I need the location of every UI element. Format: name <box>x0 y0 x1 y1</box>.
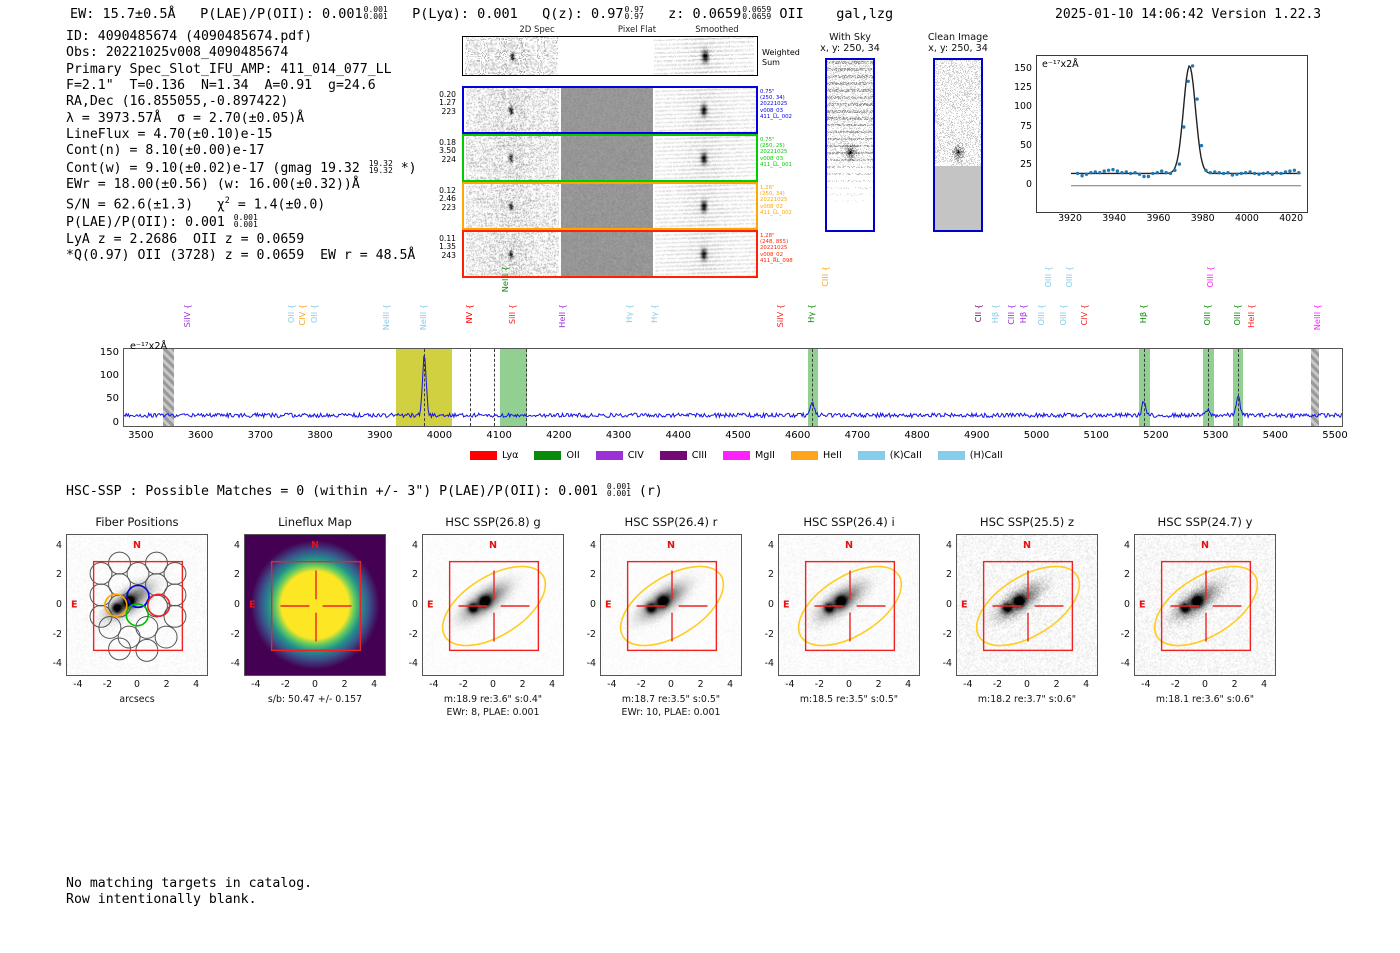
panel-y-tick: -4 <box>43 658 62 669</box>
panel-y-tick: 4 <box>755 540 774 551</box>
fiber-row-metadata: 1.28"(248, 855)20221025v008_02411_RL_098 <box>760 233 793 264</box>
spectrum-ion-label: OII { <box>286 304 296 323</box>
panel-y-tick: 0 <box>755 599 774 610</box>
panel-y-tick: 2 <box>399 569 418 580</box>
panel-x-tick: 0 <box>1018 679 1036 690</box>
spectrum-ion-label: Hγ { <box>624 304 634 323</box>
spectrum-legend-item: MgII <box>723 450 775 461</box>
panel-y-tick: 2 <box>43 569 62 580</box>
spectrum-ion-label: Hγ { <box>806 304 816 323</box>
detection-info-block: ID: 4090485674 (4090485674.pdf) Obs: 202… <box>66 29 417 264</box>
panel-image <box>1134 534 1276 676</box>
spectrum-legend-item: (K)CaII <box>858 450 922 461</box>
fit-plot-y-tick: 100 <box>1006 101 1032 112</box>
clean-image <box>933 58 983 232</box>
header-z-type: OII <box>779 6 803 22</box>
panel-image <box>244 534 386 676</box>
spectrum-x-tick: 5100 <box>1076 430 1116 441</box>
spec2d-panel-group: 2D Spec Pixel Flat Smoothed Weighted Sum… <box>462 36 758 258</box>
panel-x-tick: 2 <box>870 679 888 690</box>
panel-y-tick: 0 <box>933 599 952 610</box>
legend-swatch <box>938 451 965 460</box>
header-plya: P(Lyα): 0.001 <box>412 6 518 22</box>
header-qz-lo: 0.97 <box>624 13 643 20</box>
sky-cutout-panel: Fiber PositionsNE-4-4-2-2002244arcsecs <box>66 534 208 676</box>
panel-overlay <box>601 535 742 676</box>
spectrum-ion-label: OIII { <box>1058 304 1068 326</box>
panel-x-tick: -2 <box>276 679 294 690</box>
panel-title: Lineflux Map <box>244 515 386 529</box>
panel-y-tick: -4 <box>399 658 418 669</box>
spectrum-legend: LyαOIICIVCIIIMgIIHeII(K)CaII(H)CaII <box>470 450 1019 461</box>
fiber-smoothed-image <box>655 184 756 228</box>
fit-plot-svg <box>1037 56 1307 212</box>
fit-plot-y-tick: 25 <box>1006 159 1032 170</box>
panel-title: HSC SSP(26.4) r <box>600 515 742 529</box>
east-label: E <box>783 600 790 611</box>
panel-y-tick: 0 <box>1111 599 1130 610</box>
info-plae-lo: 0.001 <box>234 221 258 228</box>
panel-x-tick: -2 <box>632 679 650 690</box>
north-label: N <box>489 540 497 551</box>
panel-x-tick: 2 <box>1226 679 1244 690</box>
info-plae-pre: P(LAE)/P(OII): 0.001 <box>66 215 233 230</box>
panel-x-tick: -4 <box>781 679 799 690</box>
spectrum-legend-item: Lyα <box>470 450 518 461</box>
panel-title: HSC SSP(25.5) z <box>956 515 1098 529</box>
panel-image <box>956 534 1098 676</box>
hsc-header-pre: HSC-SSP : Possible Matches = 0 (within +… <box>66 484 606 499</box>
panel-y-tick: -4 <box>933 658 952 669</box>
panel-y-tick: -2 <box>399 629 418 640</box>
fit-plot-x-tick: 3940 <box>1097 213 1131 224</box>
sky-cutout-panel: HSC SSP(26.8) gNE-4-4-2-2002244m:18.9 re… <box>422 534 564 676</box>
fiber-meta-4: 411_LL_001 <box>760 162 792 168</box>
panel-overlay <box>957 535 1098 676</box>
with-sky-title-text: With Sky <box>829 32 871 43</box>
info-cont-w-pre: Cont(w) = 9.10(±0.02)e-17 (gmag 19.32 <box>66 161 368 176</box>
hsc-ssp-header: HSC-SSP : Possible Matches = 0 (within +… <box>66 483 663 499</box>
east-label: E <box>605 600 612 611</box>
panel-y-tick: -2 <box>577 629 596 640</box>
spec2d-fiber-row <box>462 134 758 182</box>
panel-y-tick: 2 <box>933 569 952 580</box>
fiber-smoothed-image <box>655 136 756 180</box>
panel-y-tick: -2 <box>221 629 240 640</box>
panel-x-tick: -4 <box>1137 679 1155 690</box>
spectrum-ion-label: CIII { <box>1006 304 1016 325</box>
col-header-smoothed: Smoothed <box>662 25 772 35</box>
panel-x-tick: -4 <box>247 679 265 690</box>
clean-image-title-text: Clean Image <box>928 32 988 43</box>
fiber-row-values: 0.183.50224 <box>422 139 456 164</box>
spectrum-ion-label: Hβ { <box>1138 304 1148 323</box>
spectrum-y-tick: 0 <box>91 417 119 428</box>
spectrum-legend-item: (H)CaII <box>938 450 1003 461</box>
panel-y-tick: -4 <box>577 658 596 669</box>
panel-caption-secondary: EWr: 10, PLAE: 0.001 <box>572 707 771 719</box>
header-classification: gal,lzg <box>836 6 893 22</box>
spectrum-x-tick: 5400 <box>1255 430 1295 441</box>
panel-x-tick: -2 <box>988 679 1006 690</box>
panel-caption-secondary: EWr: 8, PLAE: 0.001 <box>394 707 593 719</box>
panel-y-tick: 0 <box>399 599 418 610</box>
fiber-meta-4: 411_LL_002 <box>760 210 792 216</box>
panel-caption: s/b: 50.47 +/- 0.157 <box>216 694 415 706</box>
panel-y-tick: -2 <box>43 629 62 640</box>
info-lambda-sigma: λ = 3973.57Å σ = 2.70(±0.05)Å <box>66 111 417 127</box>
spectrum-x-tick: 4700 <box>837 430 877 441</box>
header-z-label: z: 0.0659 <box>668 6 741 22</box>
header-z-lo: 0.0659 <box>742 13 771 20</box>
fiber-row-values: 0.201.27223 <box>422 91 456 116</box>
panel-image <box>422 534 564 676</box>
panel-x-tick: 0 <box>128 679 146 690</box>
panel-x-tick: 2 <box>158 679 176 690</box>
header-summary-line: EW: 15.7±0.5Å P(LAE)/P(OII): 0.0010.0010… <box>70 6 893 22</box>
legend-label: (H)CaII <box>970 450 1003 461</box>
spectrum-ion-label: OIII { <box>1232 304 1242 326</box>
sky-cutout-panel: HSC SSP(26.4) iNE-4-4-2-2002244m:18.5 re… <box>778 534 920 676</box>
north-label: N <box>1023 540 1031 551</box>
info-ewr: EWr = 18.00(±0.56) (w: 16.00(±0.32))Å <box>66 177 417 193</box>
fit-plot-x-tick: 3920 <box>1053 213 1087 224</box>
legend-label: CIII <box>692 450 707 461</box>
spec2d-row-weighted-sum <box>462 36 758 76</box>
north-label: N <box>667 540 675 551</box>
panel-image <box>66 534 208 676</box>
spec2d-fiber-row <box>462 86 758 134</box>
legend-label: CIV <box>628 450 644 461</box>
spectrum-y-tick: 50 <box>91 393 119 404</box>
fiber-row-metadata: 0.75"(250, 34)20221025v008_03411_LL_002 <box>760 89 792 120</box>
full-spectrum-trace <box>124 349 1342 426</box>
spectrum-x-tick: 4000 <box>419 430 459 441</box>
east-label: E <box>71 600 78 611</box>
emission-line-fit-plot: e⁻¹⁷x2Å <box>1036 55 1308 213</box>
panel-x-tick: 2 <box>336 679 354 690</box>
spectrum-x-tick: 4600 <box>778 430 818 441</box>
spectrum-x-tick: 5000 <box>1017 430 1057 441</box>
panel-x-tick: 4 <box>1255 679 1273 690</box>
spectrum-ion-label: NeIII { <box>418 304 428 330</box>
panel-overlay <box>1135 535 1276 676</box>
panel-title: HSC SSP(26.4) i <box>778 515 920 529</box>
spectrum-x-tick: 3800 <box>300 430 340 441</box>
panel-x-tick: 2 <box>692 679 710 690</box>
spectrum-ion-label: CII { <box>973 304 983 322</box>
header-qz-label: Q(z): 0.97 <box>542 6 623 22</box>
panel-y-tick: 4 <box>43 540 62 551</box>
spectrum-ion-label: NV { <box>464 304 474 324</box>
spectrum-ion-label: CIII { <box>820 266 830 287</box>
spectrum-ion-label: SiIV { <box>182 304 192 327</box>
spectrum-ion-label: SiII { <box>507 304 517 324</box>
spectrum-x-tick: 4300 <box>599 430 639 441</box>
spectrum-x-tick: 5500 <box>1315 430 1355 441</box>
sky-cutout-panel: HSC SSP(26.4) rNE-4-4-2-2002244m:18.7 re… <box>600 534 742 676</box>
panel-caption: m:18.5 re:3.5" s:0.5" <box>750 694 949 706</box>
panel-x-tick: 2 <box>1048 679 1066 690</box>
panel-image <box>778 534 920 676</box>
panel-y-tick: 4 <box>221 540 240 551</box>
info-cont-w: Cont(w) = 9.10(±0.02)e-17 (gmag 19.32 19… <box>66 160 417 177</box>
sky-cutout-panel: HSC SSP(24.7) yNE-4-4-2-2002244m:18.1 re… <box>1134 534 1276 676</box>
spectrum-ion-label: Hγ { <box>649 304 659 323</box>
spectrum-ion-label: Hβ { <box>1018 304 1028 323</box>
spectrum-ion-label: HeII { <box>557 304 567 328</box>
spectrum-ion-label: SiIV { <box>775 304 785 327</box>
panel-x-tick: -4 <box>425 679 443 690</box>
fiber-smoothed-image <box>655 88 756 132</box>
footer-notes: No matching targets in catalog. Row inte… <box>66 876 312 909</box>
panel-x-tick: 0 <box>306 679 324 690</box>
with-sky-image <box>825 58 875 232</box>
spectrum-ion-label: NeIII { <box>1312 304 1322 330</box>
panel-x-tick: 2 <box>514 679 532 690</box>
panel-x-tick: -2 <box>1166 679 1184 690</box>
legend-label: (K)CaII <box>890 450 922 461</box>
fiber-2dspec-image <box>466 88 559 132</box>
legend-swatch <box>534 451 561 460</box>
panel-title: HSC SSP(26.8) g <box>422 515 564 529</box>
spectrum-y-tick: 150 <box>91 347 119 358</box>
legend-swatch <box>858 451 885 460</box>
legend-swatch <box>791 451 818 460</box>
fit-plot-y-tick: 0 <box>1006 179 1032 190</box>
fiber-pixelflat-image <box>561 184 653 228</box>
hsc-header-lo: 0.001 <box>607 490 631 497</box>
fiber-value-2: 224 <box>422 156 456 164</box>
panel-x-tick: 0 <box>662 679 680 690</box>
north-label: N <box>845 540 853 551</box>
panel-caption: m:18.9 re:3.6" s:0.4" <box>394 694 593 706</box>
clean-image-title: Clean Image x, y: 250, 34 <box>915 32 1001 54</box>
panel-x-tick: 4 <box>543 679 561 690</box>
info-snr-post: = 1.4(±0.0) <box>230 198 325 213</box>
panel-x-tick: -4 <box>603 679 621 690</box>
fiber-smoothed-image <box>655 232 756 276</box>
panel-y-tick: -4 <box>755 658 774 669</box>
panel-caption: m:18.2 re:3.7" s:0.6" <box>928 694 1127 706</box>
legend-label: OII <box>566 450 579 461</box>
fiber-row-values: 0.122.46223 <box>422 187 456 212</box>
panel-overlay <box>423 535 564 676</box>
north-label: N <box>311 540 319 551</box>
panel-y-tick: 2 <box>221 569 240 580</box>
footer-line-2: Row intentionally blank. <box>66 892 312 908</box>
fiber-2dspec-image <box>466 232 559 276</box>
spectrum-legend-item: CIII <box>660 450 707 461</box>
legend-swatch <box>660 451 687 460</box>
spectrum-legend-item: CIV <box>596 450 644 461</box>
spectrum-x-tick: 3900 <box>360 430 400 441</box>
panel-x-tick: -4 <box>959 679 977 690</box>
panel-title: HSC SSP(24.7) y <box>1134 515 1276 529</box>
spectrum-x-tick: 3700 <box>240 430 280 441</box>
panel-x-tick: 4 <box>899 679 917 690</box>
spectrum-legend-item: OII <box>534 450 579 461</box>
spec2d-fiber-row <box>462 182 758 230</box>
fit-plot-units: e⁻¹⁷x2Å <box>1042 59 1079 70</box>
info-plae: P(LAE)/P(OII): 0.001 0.0010.001 <box>66 214 417 231</box>
spectrum-ion-label: Hβ { <box>990 304 1000 323</box>
spectrum-ion-label: CIV { <box>1079 304 1089 326</box>
panel-x-tick: 0 <box>1196 679 1214 690</box>
clean-image-coords: x, y: 250, 34 <box>928 43 988 54</box>
panel-y-tick: -4 <box>221 658 240 669</box>
panel-x-tick: 0 <box>484 679 502 690</box>
east-label: E <box>961 600 968 611</box>
spectrum-ion-label: OIII { <box>1043 266 1053 288</box>
spectrum-x-tick: 5300 <box>1196 430 1236 441</box>
spectrum-ion-label: OIII { <box>1064 266 1074 288</box>
weighted-sum-label: Weighted Sum <box>762 48 800 68</box>
fiber-pixelflat-image <box>561 88 653 132</box>
panel-y-tick: -2 <box>755 629 774 640</box>
col-header-2dspec: 2D Spec <box>482 25 592 35</box>
spectrum-x-tick: 4500 <box>718 430 758 441</box>
panel-overlay <box>245 535 386 676</box>
panel-y-tick: -4 <box>1111 658 1130 669</box>
panel-x-tick: 4 <box>365 679 383 690</box>
panel-x-tick: 4 <box>721 679 739 690</box>
info-q-line: *Q(0.97) OII (3728) z = 0.0659 EW r = 48… <box>66 248 417 264</box>
panel-caption: m:18.7 re:3.5" s:0.5" <box>572 694 771 706</box>
fit-plot-y-tick: 50 <box>1006 140 1032 151</box>
fit-plot-y-tick: 150 <box>1006 63 1032 74</box>
spectrum-ion-label: HeII { <box>1246 304 1256 328</box>
panel-x-tick: 4 <box>187 679 205 690</box>
fit-plot-x-tick: 4020 <box>1274 213 1308 224</box>
weighted-sum-2dspec-image <box>465 37 558 75</box>
spectrum-ion-label: OIII { <box>1205 266 1215 288</box>
info-lineflux: LineFlux = 4.70(±0.10)e-15 <box>66 127 417 143</box>
header-ew: EW: 15.7±0.5Å <box>70 6 176 22</box>
legend-swatch <box>596 451 623 460</box>
spectrum-ion-label: NeIII { <box>500 266 510 292</box>
panel-y-tick: 4 <box>399 540 418 551</box>
spectrum-ion-label: OIII { <box>1036 304 1046 326</box>
panel-x-tick: -2 <box>98 679 116 690</box>
legend-label: MgII <box>755 450 775 461</box>
spectrum-x-tick: 4900 <box>957 430 997 441</box>
panel-y-tick: 0 <box>43 599 62 610</box>
with-sky-title: With Sky x, y: 250, 34 <box>812 32 888 54</box>
panel-x-tick: -4 <box>69 679 87 690</box>
panel-y-tick: -2 <box>933 629 952 640</box>
east-label: E <box>427 600 434 611</box>
panel-y-tick: 4 <box>933 540 952 551</box>
fiber-meta-2: 20221025 <box>760 101 792 107</box>
spectrum-x-tick: 4100 <box>479 430 519 441</box>
fiber-meta-4: 411_RL_098 <box>760 258 793 264</box>
legend-swatch <box>470 451 497 460</box>
header-plae-lo: 0.001 <box>364 13 388 20</box>
legend-label: HeII <box>823 450 842 461</box>
info-snr-pre: S/N = 62.6(±1.3) χ <box>66 198 225 213</box>
info-snr-chi2: S/N = 62.6(±1.3) χ2 = 1.4(±0.0) <box>66 193 417 214</box>
fiber-2dspec-image <box>466 136 559 180</box>
legend-swatch <box>723 451 750 460</box>
info-cont-w-lo: 19.32 <box>369 167 393 174</box>
footer-line-1: No matching targets in catalog. <box>66 876 312 892</box>
panel-title: Fiber Positions <box>66 515 208 529</box>
legend-label: Lyα <box>502 450 518 461</box>
spectrum-legend-item: HeII <box>791 450 842 461</box>
panel-y-tick: 2 <box>577 569 596 580</box>
header-plae-label: P(LAE)/P(OII): 0.001 <box>200 6 363 22</box>
fiber-pixelflat-image <box>561 232 653 276</box>
fiber-meta-4: 411_LL_002 <box>760 114 792 120</box>
panel-y-tick: -2 <box>1111 629 1130 640</box>
panel-y-tick: 0 <box>221 599 240 610</box>
full-spectrum-plot <box>123 348 1343 427</box>
spectrum-x-tick: 4800 <box>897 430 937 441</box>
fiber-value-2: 223 <box>422 204 456 212</box>
panel-y-tick: 2 <box>1111 569 1130 580</box>
weighted-sum-pixelflat-image <box>560 37 652 75</box>
spectrum-ion-label: OII { <box>309 304 319 323</box>
weighted-sum-smoothed-image <box>654 37 754 75</box>
spectrum-x-tick: 3600 <box>181 430 221 441</box>
spectrum-x-tick: 4200 <box>539 430 579 441</box>
fiber-value-2: 243 <box>422 252 456 260</box>
panel-overlay <box>67 535 208 676</box>
info-radec: RA,Dec (16.855055,-0.897422) <box>66 94 417 110</box>
panel-x-tick: 4 <box>1077 679 1095 690</box>
panel-x-axis-label: arcsecs <box>38 694 237 706</box>
panel-y-tick: 4 <box>577 540 596 551</box>
spectrum-ion-label: OIII { <box>1202 304 1212 326</box>
spectrum-x-tick: 4400 <box>658 430 698 441</box>
panel-y-tick: 2 <box>755 569 774 580</box>
info-seeing: F=2.1" T=0.136 N=1.34 A=0.91 g=24.6 <box>66 78 417 94</box>
info-id: ID: 4090485674 (4090485674.pdf) <box>66 29 417 45</box>
panel-x-tick: -2 <box>454 679 472 690</box>
panel-overlay <box>779 535 920 676</box>
spectrum-units: e⁻¹⁷x2Å <box>130 341 167 352</box>
info-obs: Obs: 20221025v008_4090485674 <box>66 45 417 61</box>
fiber-meta-2: 20221025 <box>760 149 792 155</box>
east-label: E <box>1139 600 1146 611</box>
north-label: N <box>133 540 141 551</box>
panel-image <box>600 534 742 676</box>
spectrum-x-tick: 3500 <box>121 430 161 441</box>
panel-x-tick: 0 <box>840 679 858 690</box>
timestamp-version: 2025-01-10 14:06:42 Version 1.22.3 <box>1055 7 1321 22</box>
with-sky-coords: x, y: 250, 34 <box>820 43 880 54</box>
spectrum-ion-label: NeIII { <box>381 304 391 330</box>
east-label: E <box>249 600 256 611</box>
north-label: N <box>1201 540 1209 551</box>
fiber-row-metadata: 1.26"(250, 34)20221025v008_02411_LL_002 <box>760 185 792 216</box>
fiber-value-2: 223 <box>422 108 456 116</box>
fit-plot-x-tick: 4000 <box>1230 213 1264 224</box>
fit-plot-x-tick: 3960 <box>1141 213 1175 224</box>
sky-cutout-panel: Lineflux MapNE-4-4-2-2002244s/b: 50.47 +… <box>244 534 386 676</box>
hsc-header-post: (r) <box>631 484 663 499</box>
fit-plot-y-tick: 125 <box>1006 82 1032 93</box>
panel-y-tick: 0 <box>577 599 596 610</box>
spectrum-y-tick: 100 <box>91 370 119 381</box>
info-redshifts: LyA z = 2.2686 OII z = 0.0659 <box>66 232 417 248</box>
panel-x-tick: -2 <box>810 679 828 690</box>
fiber-row-metadata: 0.75"(250, 25)20221025v008_03411_LL_001 <box>760 137 792 168</box>
spectrum-x-tick: 5200 <box>1136 430 1176 441</box>
fiber-row-values: 0.111.35243 <box>422 235 456 260</box>
info-primary-amp: Primary Spec_Slot_IFU_AMP: 411_014_077_L… <box>66 62 417 78</box>
